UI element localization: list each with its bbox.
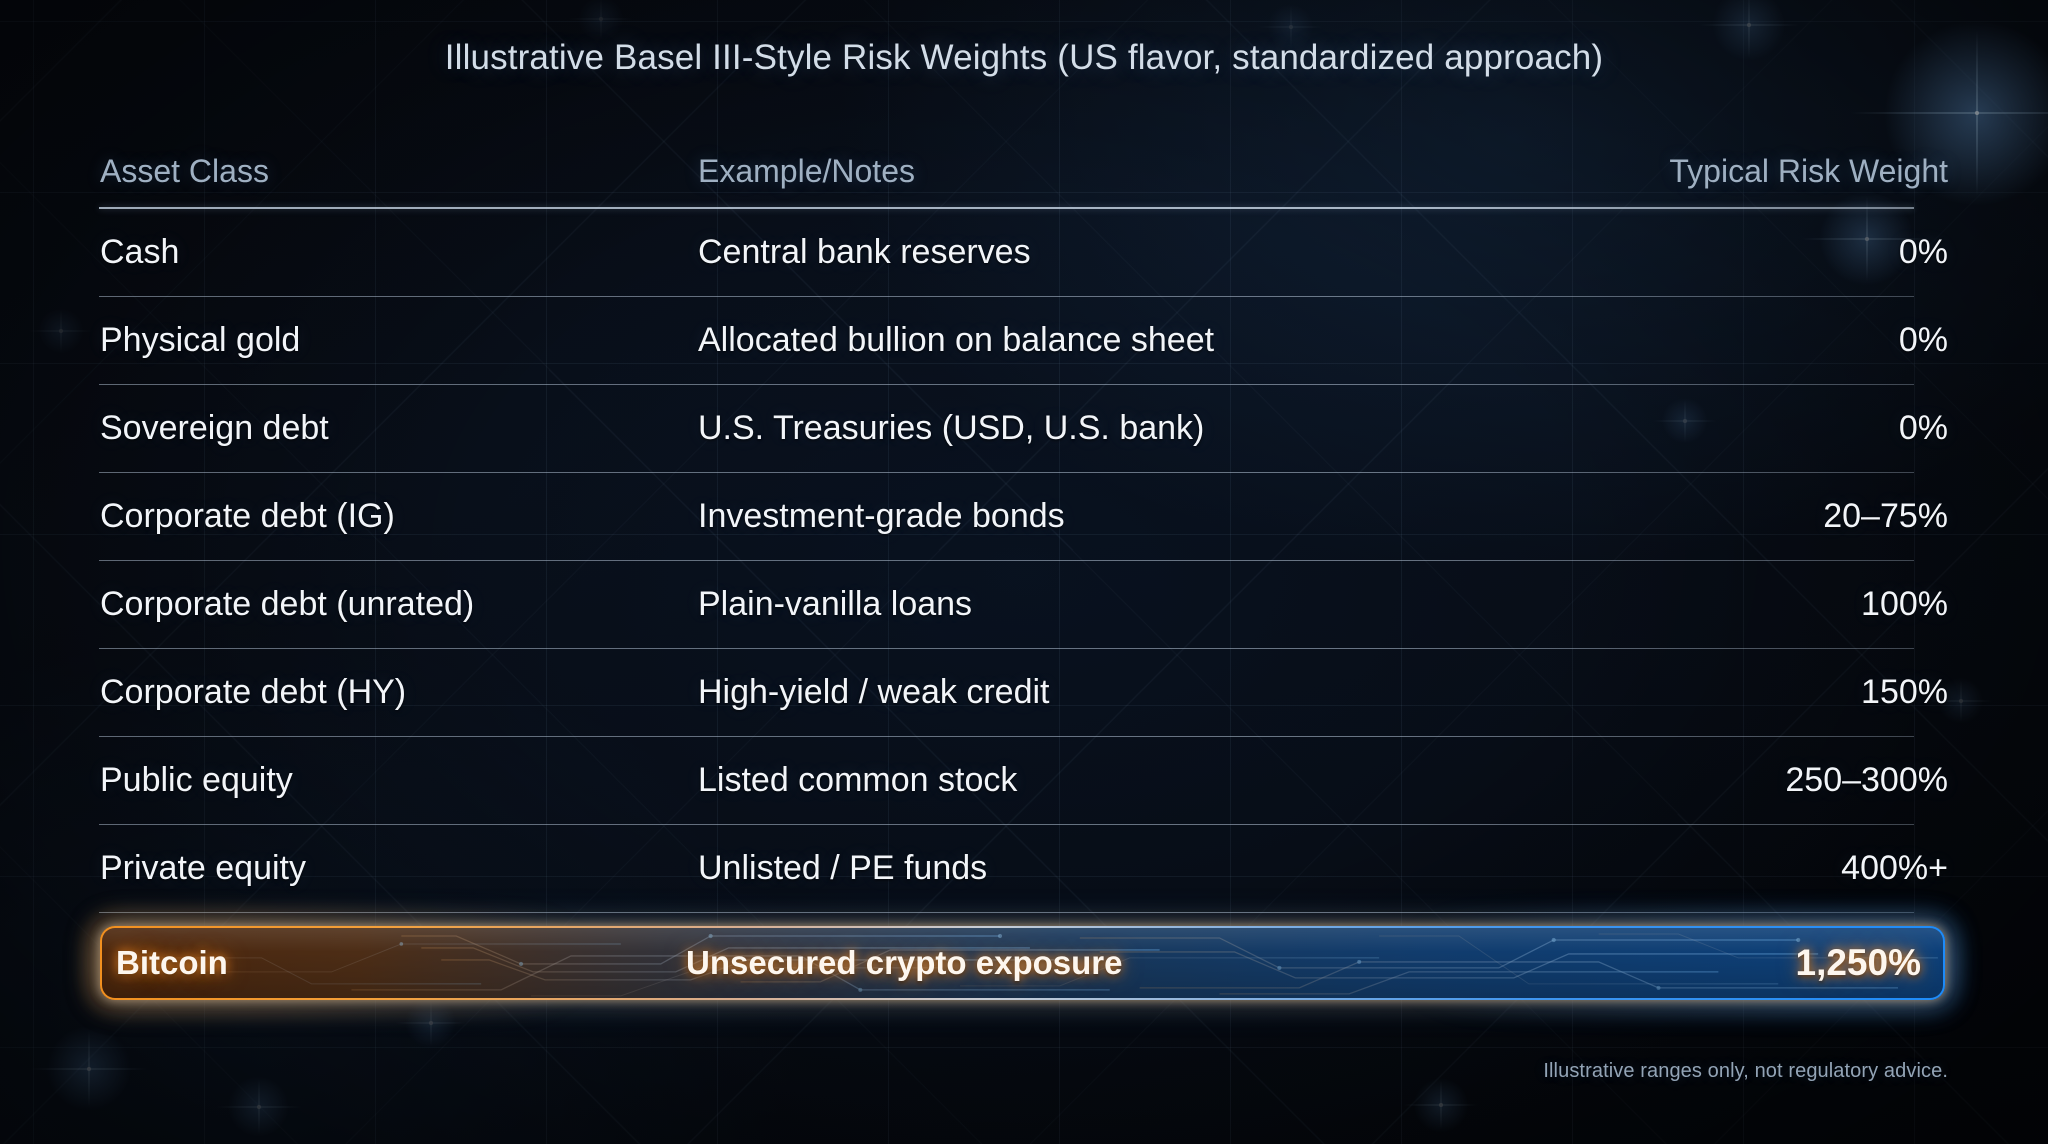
- cell-asset: Corporate debt (HY): [100, 673, 698, 712]
- cell-asset: Cash: [100, 233, 698, 272]
- cell-asset: Private equity: [100, 849, 698, 888]
- cell-weight: 0%: [1498, 233, 1948, 272]
- table-row: Corporate debt (IG)Investment-grade bond…: [100, 473, 1948, 560]
- table-row: Corporate debt (unrated)Plain-vanilla lo…: [100, 561, 1948, 648]
- bitcoin-highlight-row[interactable]: Bitcoin Unsecured crypto exposure 1,250%: [100, 926, 1945, 1000]
- page-title: Illustrative Basel III-Style Risk Weight…: [0, 38, 2048, 78]
- cell-asset: Corporate debt (unrated): [100, 585, 698, 624]
- table-row: Sovereign debtU.S. Treasuries (USD, U.S.…: [100, 385, 1948, 472]
- table-row: Private equityUnlisted / PE funds400%+: [100, 825, 1948, 912]
- cell-notes: Central bank reserves: [698, 233, 1498, 272]
- cell-weight: 0%: [1498, 409, 1948, 448]
- cell-weight: 250–300%: [1498, 761, 1948, 800]
- bitcoin-asset-class: Bitcoin: [102, 944, 686, 982]
- cell-notes: Plain-vanilla loans: [698, 585, 1498, 624]
- cell-weight: 20–75%: [1498, 497, 1948, 536]
- cell-weight: 100%: [1498, 585, 1948, 624]
- cell-asset: Corporate debt (IG): [100, 497, 698, 536]
- cell-weight: 400%+: [1498, 849, 1948, 888]
- column-header-example-notes: Example/Notes: [698, 153, 1498, 190]
- cell-asset: Public equity: [100, 761, 698, 800]
- bitcoin-notes: Unsecured crypto exposure: [686, 944, 1486, 982]
- column-header-asset-class: Asset Class: [100, 153, 698, 190]
- footnote-disclaimer: Illustrative ranges only, not regulatory…: [1543, 1060, 1948, 1083]
- risk-weight-table: Asset Class Example/Notes Typical Risk W…: [100, 135, 1948, 1000]
- cell-asset: Sovereign debt: [100, 409, 698, 448]
- cell-asset: Physical gold: [100, 321, 698, 360]
- table-row: Public equityListed common stock250–300%: [100, 737, 1948, 824]
- cell-notes: Investment-grade bonds: [698, 497, 1498, 536]
- bitcoin-risk-weight: 1,250%: [1486, 942, 1943, 984]
- cell-notes: Unlisted / PE funds: [698, 849, 1498, 888]
- table-header-row: Asset Class Example/Notes Typical Risk W…: [100, 135, 1948, 207]
- column-header-typical-risk-weight: Typical Risk Weight: [1498, 153, 1948, 190]
- cell-notes: Listed common stock: [698, 761, 1498, 800]
- bitcoin-row-body: Bitcoin Unsecured crypto exposure 1,250%: [102, 928, 1943, 998]
- bitcoin-row-border: Bitcoin Unsecured crypto exposure 1,250%: [100, 926, 1945, 1000]
- cell-notes: High-yield / weak credit: [698, 673, 1498, 712]
- table-row: Physical goldAllocated bullion on balanc…: [100, 297, 1948, 384]
- cell-notes: Allocated bullion on balance sheet: [698, 321, 1498, 360]
- cell-weight: 0%: [1498, 321, 1948, 360]
- table-row: CashCentral bank reserves0%: [100, 209, 1948, 296]
- cell-notes: U.S. Treasuries (USD, U.S. bank): [698, 409, 1498, 448]
- row-divider: [99, 912, 1914, 913]
- table-row: Corporate debt (HY)High-yield / weak cre…: [100, 649, 1948, 736]
- slide-content: Illustrative Basel III-Style Risk Weight…: [0, 0, 2048, 1144]
- cell-weight: 150%: [1498, 673, 1948, 712]
